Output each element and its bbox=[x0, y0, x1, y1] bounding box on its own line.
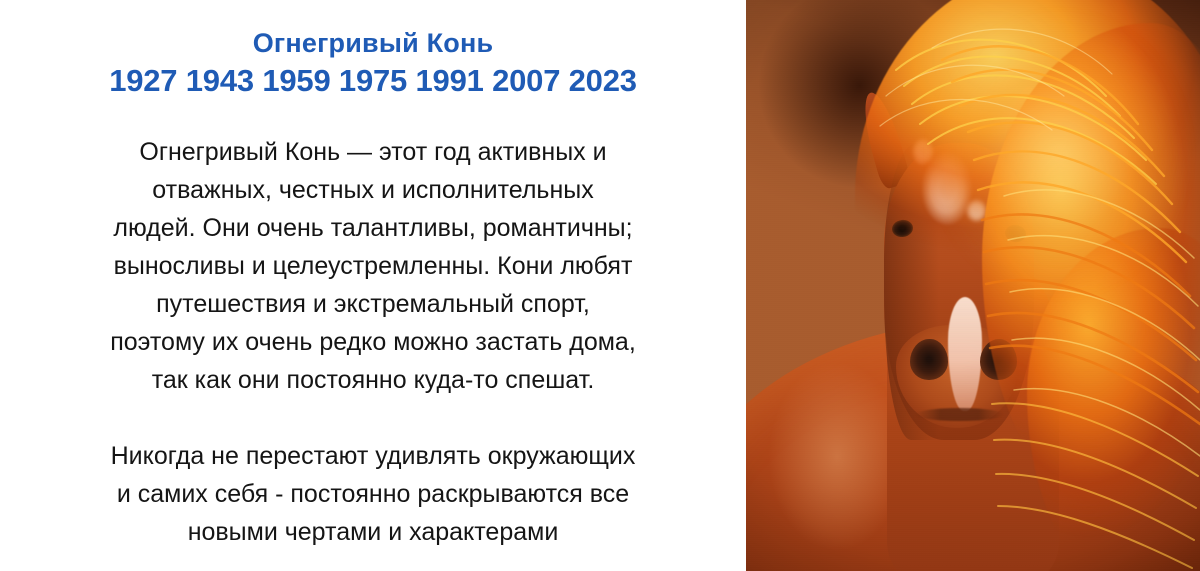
page-title: Огнегривый Конь bbox=[14, 28, 732, 60]
photo-grain bbox=[746, 0, 1200, 571]
description-paragraph-2: Никогда не перестают удивлять окружающих… bbox=[14, 437, 732, 551]
horse-photo bbox=[746, 0, 1200, 571]
horse-photo-stage bbox=[746, 0, 1200, 571]
heading-block: Огнегривый Конь 1927 1943 1959 1975 1991… bbox=[14, 28, 732, 99]
description-block: Огнегривый Конь — этот год активных и от… bbox=[14, 133, 732, 551]
text-panel: Огнегривый Конь 1927 1943 1959 1975 1991… bbox=[0, 0, 746, 571]
description-paragraph-1: Огнегривый Конь — этот год активных и от… bbox=[14, 133, 732, 399]
horoscope-card: Огнегривый Конь 1927 1943 1959 1975 1991… bbox=[0, 0, 1200, 571]
year-list: 1927 1943 1959 1975 1991 2007 2023 bbox=[14, 63, 732, 100]
